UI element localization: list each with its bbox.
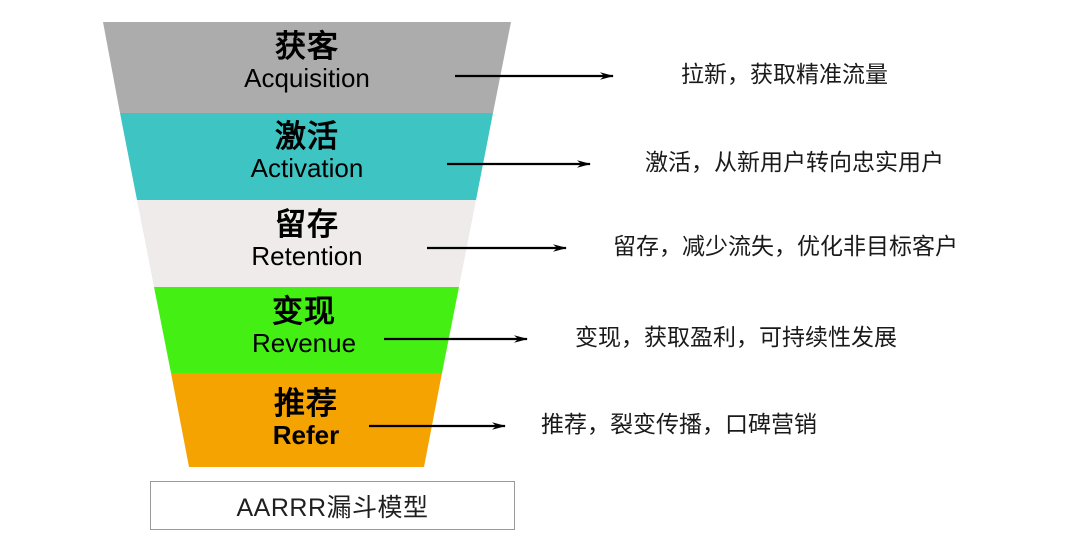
stage-label-acquisition: 获客 Acquisition <box>207 31 407 91</box>
stage-en-activation: Activation <box>207 155 407 181</box>
stage-en-retention: Retention <box>207 243 407 269</box>
stage-en-refer: Refer <box>206 422 406 448</box>
caption-box: AARRR漏斗模型 <box>150 481 515 530</box>
stage-en-revenue: Revenue <box>204 330 404 356</box>
diagram-canvas: 获客 Acquisition 激活 Activation 留存 Retentio… <box>0 0 1080 558</box>
annotation-retention: 留存，减少流失，优化非目标客户 <box>613 236 958 259</box>
stage-en-acquisition: Acquisition <box>207 65 407 91</box>
annotation-refer: 推荐，裂变传播，口碑营销 <box>541 414 817 437</box>
stage-cn-retention: 留存 <box>207 209 407 240</box>
stage-cn-refer: 推荐 <box>206 388 406 419</box>
stage-label-activation: 激活 Activation <box>207 121 407 181</box>
stage-label-retention: 留存 Retention <box>207 209 407 269</box>
stage-cn-activation: 激活 <box>207 121 407 152</box>
stage-label-refer: 推荐 Refer <box>206 388 406 448</box>
stage-cn-revenue: 变现 <box>204 296 404 327</box>
annotation-activation: 激活，从新用户转向忠实用户 <box>645 152 944 175</box>
annotation-revenue: 变现，获取盈利，可持续性发展 <box>575 327 897 350</box>
stage-label-revenue: 变现 Revenue <box>204 296 404 356</box>
annotation-acquisition: 拉新，获取精准流量 <box>681 64 888 87</box>
stage-cn-acquisition: 获客 <box>207 31 407 62</box>
funnel-shape <box>0 0 1080 558</box>
caption-label: AARRR漏斗模型 <box>236 488 428 524</box>
